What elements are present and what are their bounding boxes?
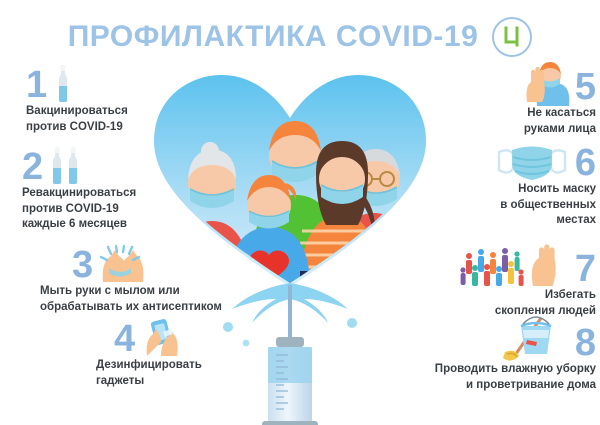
- avoid-crowd-icon: [457, 244, 569, 288]
- dont-touch-face-icon: [523, 62, 569, 106]
- prevention-item-8: 8 Проводить влажную уборку и проветриван…: [348, 316, 596, 393]
- prevention-item-6: 6 Носить маску в общественных местах: [452, 140, 596, 229]
- item-4-head: 4: [114, 318, 256, 358]
- prevention-item-3: 3 Мыть руки с мылом или обрабатывать их …: [40, 246, 245, 315]
- item-8-caption: Проводить влажную уборку и проветривание…: [348, 362, 596, 393]
- vaccine-ampoule-icon: [53, 64, 73, 104]
- item-1-caption: Вакцинироваться против COVID-19: [26, 104, 196, 135]
- disinfect-phone-icon: [141, 318, 181, 358]
- item-2-head: 2: [22, 146, 202, 186]
- item-4-number: 4: [114, 320, 135, 358]
- item-3-caption: Мыть руки с мылом или обрабатывать их ан…: [40, 284, 245, 315]
- prevention-item-1: 1 Вакцинироваться против COVID-19: [26, 64, 196, 135]
- page-header: ПРОФИЛАКТИКА COVID-19: [0, 14, 600, 60]
- item-7-caption: Избегать скопления людей: [404, 288, 596, 319]
- item-3-number: 3: [72, 246, 93, 284]
- item-7-head: 7: [404, 244, 596, 288]
- item-6-number: 6: [575, 144, 596, 182]
- page-title: ПРОФИЛАКТИКА COVID-19: [68, 20, 479, 54]
- item-2-number: 2: [22, 148, 43, 186]
- bucket-mop-icon: [497, 316, 569, 362]
- crowd-icon: [460, 248, 523, 286]
- face-mask-icon: [495, 140, 569, 182]
- prevention-item-5: 5 Не касаться руками лица: [466, 62, 596, 137]
- two-vaccine-ampoules-icon: [49, 146, 87, 186]
- item-8-head: 8: [348, 316, 596, 362]
- infographic-root: ПРОФИЛАКТИКА COVID-19: [0, 0, 600, 425]
- prevention-item-7: 7 Избегать скопления людей: [404, 244, 596, 319]
- prevention-item-2: 2 Ревакцинироваться прот: [22, 146, 202, 233]
- item-1-head: 1: [26, 64, 196, 104]
- item-6-caption: Носить маску в общественных местах: [452, 182, 596, 229]
- item-5-caption: Не касаться руками лица: [466, 106, 596, 137]
- logo-letter-icon: [503, 26, 520, 47]
- item-7-number: 7: [575, 250, 596, 288]
- item-6-head: 6: [452, 140, 596, 182]
- item-2-caption: Ревакцинироваться против COVID-19 каждые…: [22, 186, 202, 233]
- item-8-number: 8: [575, 324, 596, 362]
- prevention-item-4: 4 Дезинфицировать гаджеты: [96, 318, 256, 389]
- item-3-head: 3: [72, 246, 245, 284]
- item-5-number: 5: [575, 68, 596, 106]
- washing-hands-icon: [99, 246, 141, 284]
- item-4-caption: Дезинфицировать гаджеты: [96, 358, 256, 389]
- item-1-number: 1: [26, 66, 47, 104]
- item-5-head: 5: [466, 62, 596, 106]
- company-logo: [492, 17, 532, 57]
- stop-hand-icon: [532, 244, 556, 286]
